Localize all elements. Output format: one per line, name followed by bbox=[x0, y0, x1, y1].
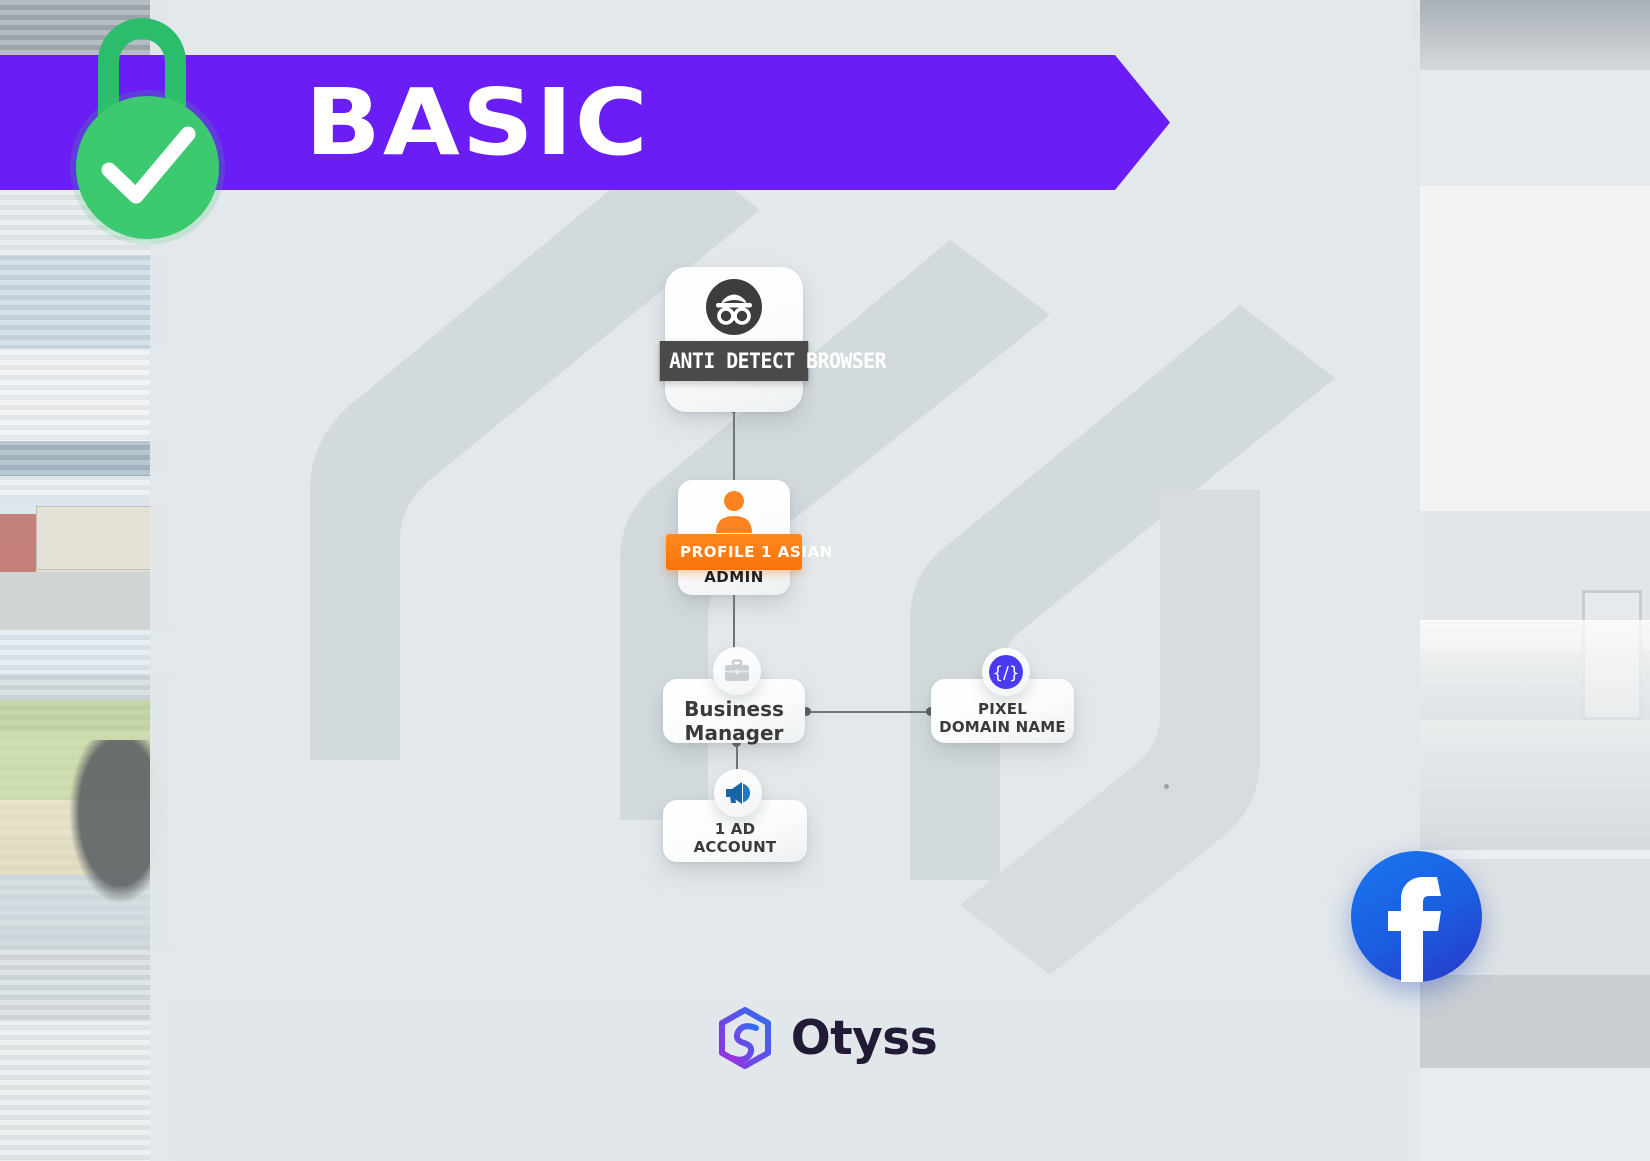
office-desk-right bbox=[1410, 0, 1650, 1161]
facebook-icon[interactable] bbox=[1351, 851, 1482, 982]
brand-name: Otyss bbox=[791, 1011, 938, 1066]
checkmark-icon bbox=[76, 96, 219, 239]
node-label-profile: PROFILE 1 ASIAN bbox=[666, 534, 802, 570]
code-brackets-icon: {/} bbox=[982, 648, 1030, 696]
incognito-spy-icon bbox=[705, 278, 763, 336]
svg-text:{/}: {/} bbox=[992, 664, 1019, 684]
office-ceiling bbox=[1410, 0, 1650, 70]
monitor bbox=[1582, 590, 1642, 720]
megaphone-icon bbox=[724, 781, 752, 805]
city-view-left bbox=[0, 500, 170, 630]
otyss-hex-logo-icon bbox=[713, 1006, 777, 1070]
node-label-ad-account: 1 AD ACCOUNT bbox=[663, 820, 807, 857]
unlock-check-badge bbox=[76, 18, 256, 240]
ad-account-badge bbox=[714, 769, 762, 817]
briefcase-badge bbox=[713, 647, 761, 695]
briefcase-icon bbox=[724, 659, 750, 683]
node-label-pixel-domain-name: PIXEL DOMAIN NAME bbox=[931, 700, 1074, 737]
person-icon bbox=[713, 489, 755, 533]
poster-stage: BASIC ANTI DETECT BROWSER bbox=[0, 0, 1650, 1161]
node-sublabel-profile-admin: ADMIN bbox=[678, 568, 790, 586]
node-label-anti-detect-browser: ANTI DETECT BROWSER bbox=[660, 341, 809, 381]
pixel-badge: {/} bbox=[982, 648, 1030, 696]
brand-footer: Otyss bbox=[0, 1006, 1650, 1070]
node-label-business-manager: Business Manager bbox=[663, 697, 805, 746]
connector-profile-to-bm bbox=[733, 588, 735, 656]
page-title: BASIC bbox=[305, 77, 650, 169]
decorative-dot bbox=[1164, 784, 1169, 789]
connector-bm-to-pixel bbox=[806, 711, 930, 713]
